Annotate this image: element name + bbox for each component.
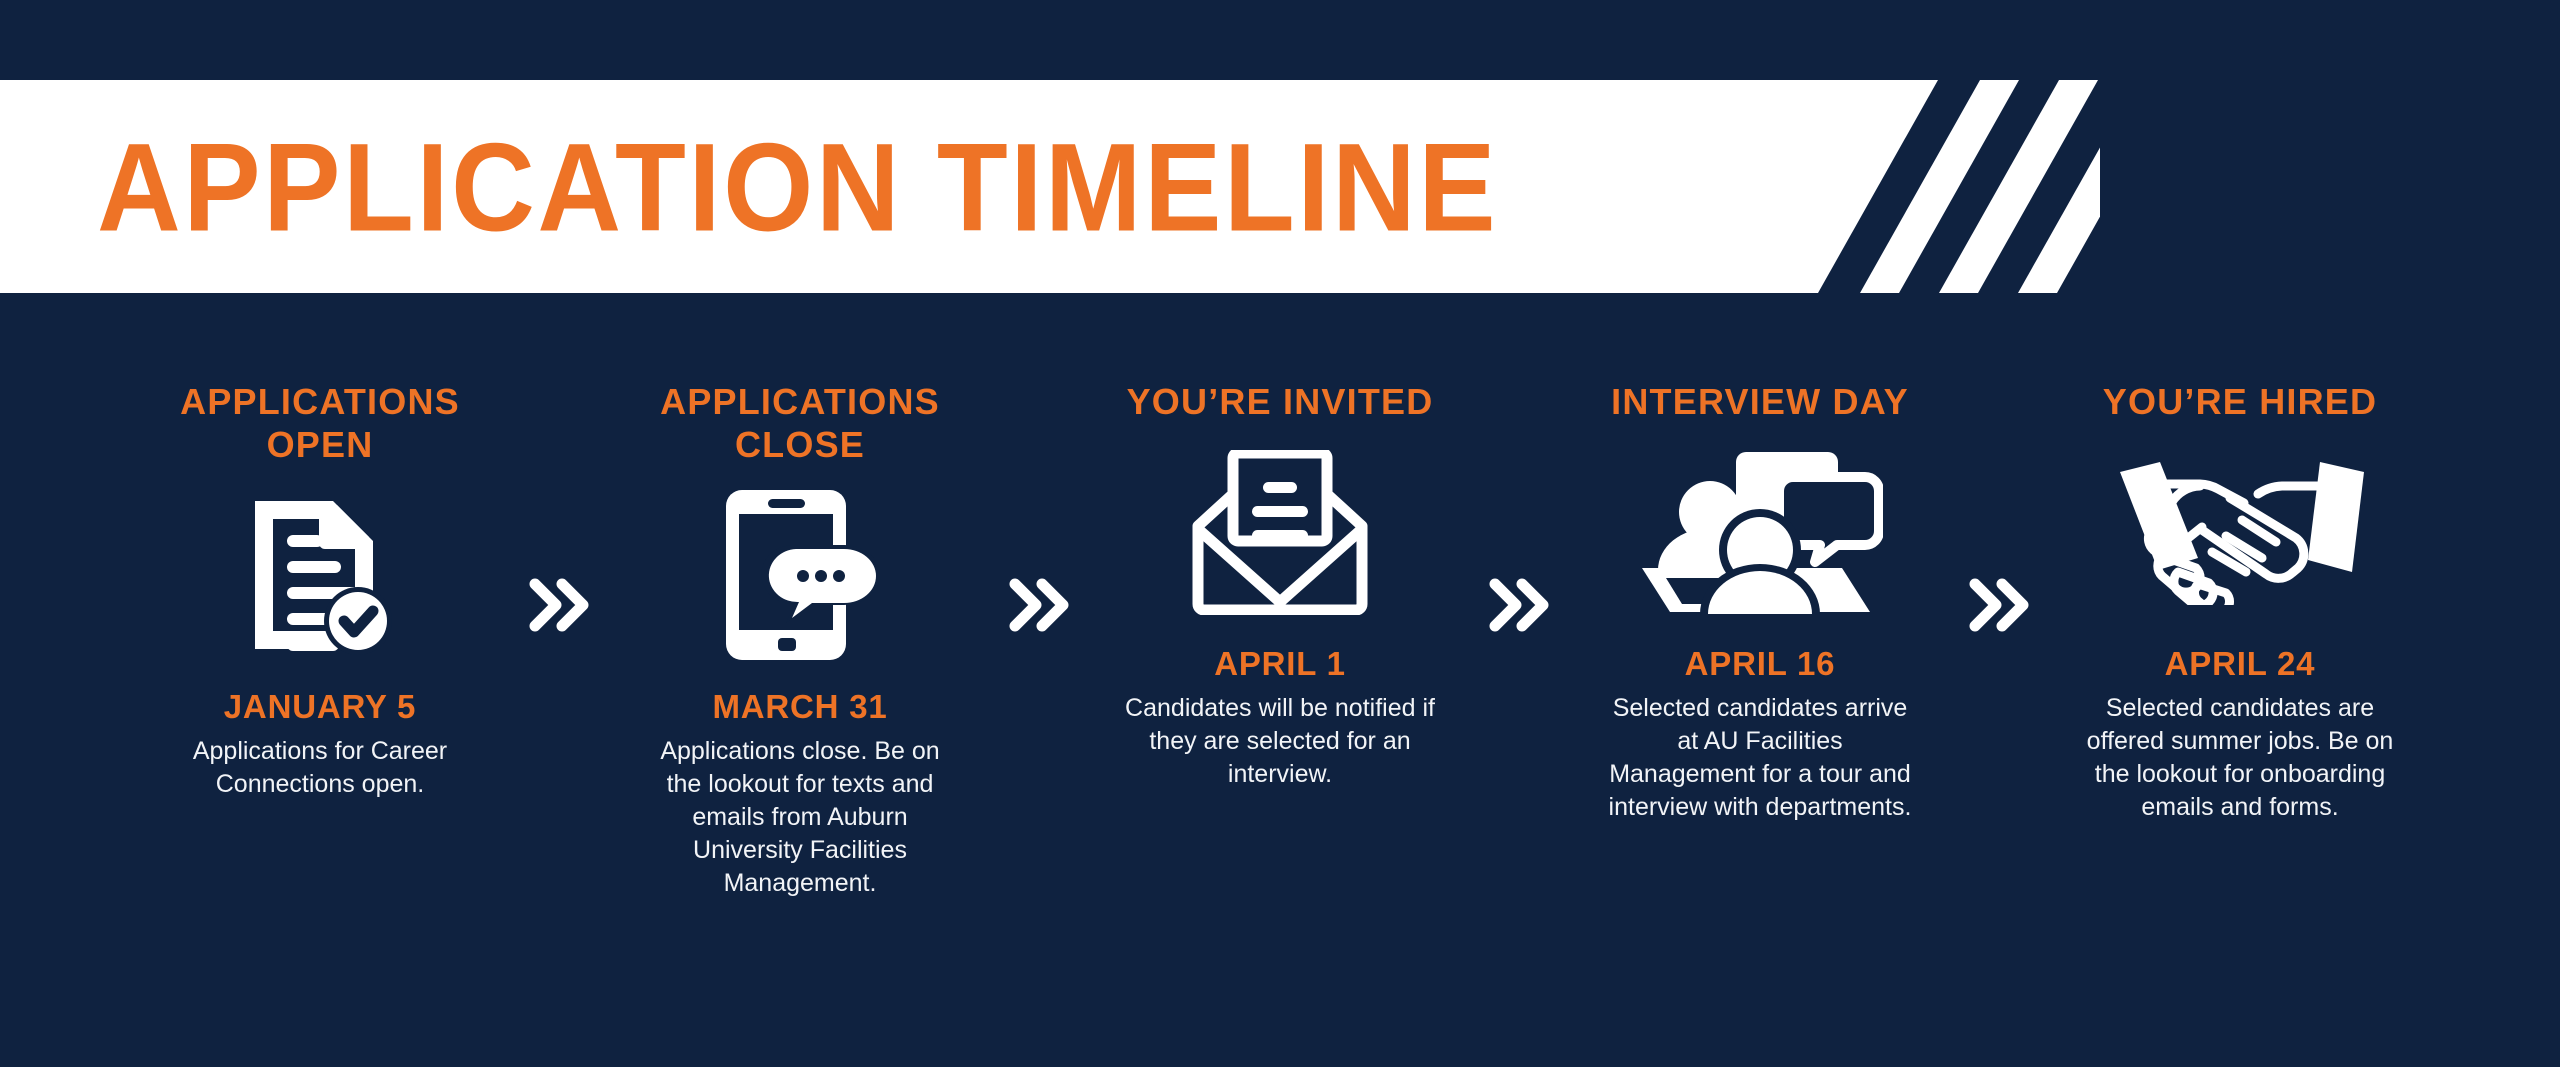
- double-chevron-right-icon: [1480, 570, 1560, 640]
- step-title: APPLICATIONS CLOSE: [635, 380, 965, 466]
- step-description: Selected candidates are offered summer j…: [2085, 692, 2395, 824]
- step-title: INTERVIEW DAY: [1611, 380, 1909, 423]
- step-date: APRIL 24: [2165, 645, 2316, 683]
- double-chevron-right-icon: [520, 570, 600, 640]
- timeline-step-applications-close: APPLICATIONS CLOSE MARCH 31 Applications…: [600, 380, 1000, 900]
- document-check-icon: [245, 480, 395, 670]
- step-description: Selected candidates arrive at AU Facilit…: [1605, 692, 1915, 824]
- step-date: APRIL 16: [1685, 645, 1836, 683]
- header-stripe-1: [1860, 80, 2019, 293]
- timeline-step-applications-open: APPLICATIONS OPEN JANUARY 5 Applications…: [120, 380, 520, 801]
- step-description: Candidates will be notified if they are …: [1125, 692, 1435, 791]
- interview-people-speech-icon: [1638, 437, 1883, 627]
- step-date: MARCH 31: [712, 688, 887, 726]
- double-chevron-right-icon: [1000, 570, 1080, 640]
- header-stripe-3: [2018, 80, 2100, 293]
- step-title: YOU’RE HIRED: [2103, 380, 2377, 423]
- phone-message-icon: [720, 480, 880, 670]
- timeline-step-interview-day: INTERVIEW DAY: [1560, 380, 1960, 824]
- page-title: APPLICATION TIMELINE: [97, 117, 1498, 257]
- application-timeline-infographic: APPLICATION TIMELINE APPLICATIONS OPEN: [0, 0, 2560, 1067]
- step-title: APPLICATIONS OPEN: [155, 380, 485, 466]
- handshake-icon: [2080, 437, 2400, 627]
- step-date: APRIL 1: [1214, 645, 1346, 683]
- step-description: Applications close. Be on the lookout fo…: [645, 735, 955, 900]
- step-description: Applications for Career Connections open…: [165, 735, 475, 801]
- double-chevron-right-icon: [1960, 570, 2040, 640]
- header-stripe-2: [1939, 80, 2098, 293]
- timeline-step-youre-hired: YOU’RE HIRED: [2040, 380, 2440, 824]
- timeline-step-youre-invited: YOU’RE INVITED APRIL 1 Candidates will b…: [1080, 380, 1480, 791]
- step-date: JANUARY 5: [224, 688, 416, 726]
- step-title: YOU’RE INVITED: [1127, 380, 1434, 423]
- timeline-steps: APPLICATIONS OPEN JANUARY 5 Applications…: [0, 380, 2560, 900]
- open-envelope-letter-icon: [1190, 437, 1370, 627]
